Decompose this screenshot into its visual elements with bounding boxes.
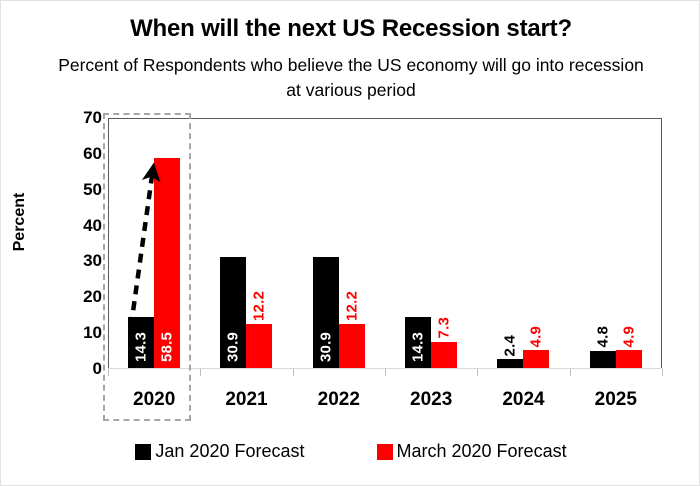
bar-2022-march[interactable]: 12.2 — [339, 324, 365, 368]
y-axis-tick-labels: 706050403020100 — [54, 118, 102, 369]
legend-item-march-2020-forecast[interactable]: March 2020 Forecast — [377, 441, 567, 462]
bar-group-2020: 14.358.5 — [109, 117, 201, 368]
bar-value-label: 4.9 — [528, 326, 545, 347]
x-axis-tick — [477, 369, 478, 376]
x-axis-label-2021: 2021 — [200, 389, 292, 411]
bar-group-2024: 2.44.9 — [478, 117, 570, 368]
y-axis-tick-10: 10 — [56, 323, 102, 343]
x-axis-tick — [385, 369, 386, 376]
x-axis-label-2024: 2024 — [477, 389, 569, 411]
bar-2021-jan[interactable]: 30.9 — [220, 257, 246, 368]
bar-group-2022: 30.912.2 — [294, 117, 386, 368]
x-axis-label-2025: 2025 — [570, 389, 662, 411]
x-axis-tick — [662, 369, 663, 376]
bar-value-label: 2.4 — [502, 335, 519, 356]
bar-group-2023: 14.37.3 — [386, 117, 478, 368]
y-axis-tick-20: 20 — [56, 287, 102, 307]
y-axis-tick-30: 30 — [56, 251, 102, 271]
chart-figure: When will the next US Recession start? P… — [0, 0, 700, 486]
x-axis-tick — [108, 369, 109, 376]
bar-2025-march[interactable]: 4.9 — [616, 350, 642, 368]
bar-value-label: 14.3 — [133, 332, 150, 362]
bar-value-label: 58.5 — [159, 332, 176, 362]
bar-group-2025: 4.84.9 — [571, 117, 663, 368]
x-axis-label-2022: 2022 — [293, 389, 385, 411]
plot-area: 14.358.530.912.230.912.214.37.32.44.94.8… — [108, 118, 662, 369]
bar-2023-march[interactable]: 7.3 — [431, 342, 457, 368]
bar-value-label: 14.3 — [410, 332, 427, 362]
bar-2020-jan[interactable]: 14.3 — [128, 317, 154, 368]
y-axis-tick-40: 40 — [56, 216, 102, 236]
bar-2020-march[interactable]: 58.5 — [154, 158, 180, 368]
x-axis-label-2020: 2020 — [108, 389, 200, 411]
bar-value-label: 7.3 — [436, 317, 453, 338]
bar-value-label: 4.9 — [620, 326, 637, 347]
bar-group-2021: 30.912.2 — [201, 117, 293, 368]
bar-value-label: 4.8 — [594, 326, 611, 347]
y-axis-tick-60: 60 — [56, 144, 102, 164]
bar-value-label: 12.2 — [251, 291, 268, 321]
x-axis-label-2023: 2023 — [385, 389, 477, 411]
chart-subtitle: Percent of Respondents who believe the U… — [51, 53, 651, 103]
bar-value-label: 12.2 — [343, 291, 360, 321]
bar-value-label: 30.9 — [225, 332, 242, 362]
x-axis-tick — [200, 369, 201, 376]
bar-2024-march[interactable]: 4.9 — [523, 350, 549, 368]
legend-swatch-icon — [377, 444, 393, 460]
y-axis-tick-70: 70 — [56, 108, 102, 128]
y-axis-title: Percent — [11, 182, 29, 262]
chart-title: When will the next US Recession start? — [1, 15, 700, 43]
bar-2025-jan[interactable]: 4.8 — [590, 351, 616, 368]
bar-2021-march[interactable]: 12.2 — [246, 324, 272, 368]
x-axis-tick — [293, 369, 294, 376]
chart-legend: Jan 2020 ForecastMarch 2020 Forecast — [1, 441, 700, 462]
legend-label: March 2020 Forecast — [397, 441, 567, 462]
bar-value-label: 30.9 — [317, 332, 334, 362]
legend-swatch-icon — [135, 444, 151, 460]
legend-label: Jan 2020 Forecast — [155, 441, 304, 462]
bar-2023-jan[interactable]: 14.3 — [405, 317, 431, 368]
bar-2024-jan[interactable]: 2.4 — [497, 359, 523, 368]
x-axis-tick — [570, 369, 571, 376]
y-axis-tick-50: 50 — [56, 180, 102, 200]
bar-2022-jan[interactable]: 30.9 — [313, 257, 339, 368]
y-axis-tick-0: 0 — [56, 359, 102, 379]
legend-item-jan-2020-forecast[interactable]: Jan 2020 Forecast — [135, 441, 304, 462]
